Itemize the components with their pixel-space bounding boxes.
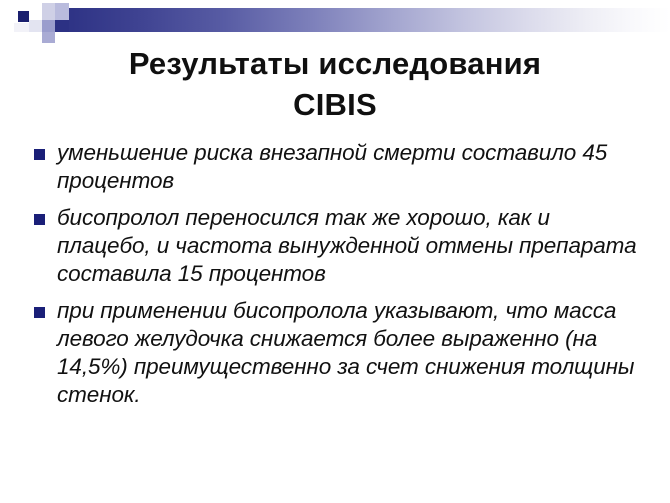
header-decoration (0, 0, 670, 44)
mosaic-square-darknavy (55, 20, 69, 32)
slide-title-line-1: Результаты исследования (45, 43, 625, 84)
mosaic-square-white-2 (29, 8, 42, 20)
mosaic-square-navy (18, 11, 29, 22)
list-item-text: бисопролол переносился так же хорошо, ка… (57, 204, 646, 288)
mosaic-square-white-3 (29, 32, 42, 43)
mosaic-square-medium-1 (42, 20, 55, 32)
mosaic-square-light-1 (42, 3, 55, 20)
slide-title: Результаты исследования CIBIS (45, 43, 625, 125)
list-item-text: при применении бисопролола указывают, чт… (57, 297, 646, 409)
list-item: уменьшение риска внезапной смерти состав… (34, 139, 646, 195)
square-bullet-icon (34, 214, 45, 225)
list-item-text: уменьшение риска внезапной смерти состав… (57, 139, 646, 195)
mosaic-square-pale-2 (14, 23, 29, 32)
mosaic-square-medium-2 (42, 32, 55, 43)
list-item: при применении бисопролола указывают, чт… (34, 297, 646, 409)
list-item: бисопролол переносился так же хорошо, ка… (34, 204, 646, 288)
gradient-bar (34, 8, 670, 32)
slide-title-line-2: CIBIS (45, 84, 625, 125)
square-bullet-icon (34, 149, 45, 160)
slide-bullet-list: уменьшение риска внезапной смерти состав… (34, 139, 646, 418)
mosaic-square-pale-1 (29, 20, 42, 32)
square-bullet-icon (34, 307, 45, 318)
mosaic-square-light-2 (55, 3, 69, 20)
